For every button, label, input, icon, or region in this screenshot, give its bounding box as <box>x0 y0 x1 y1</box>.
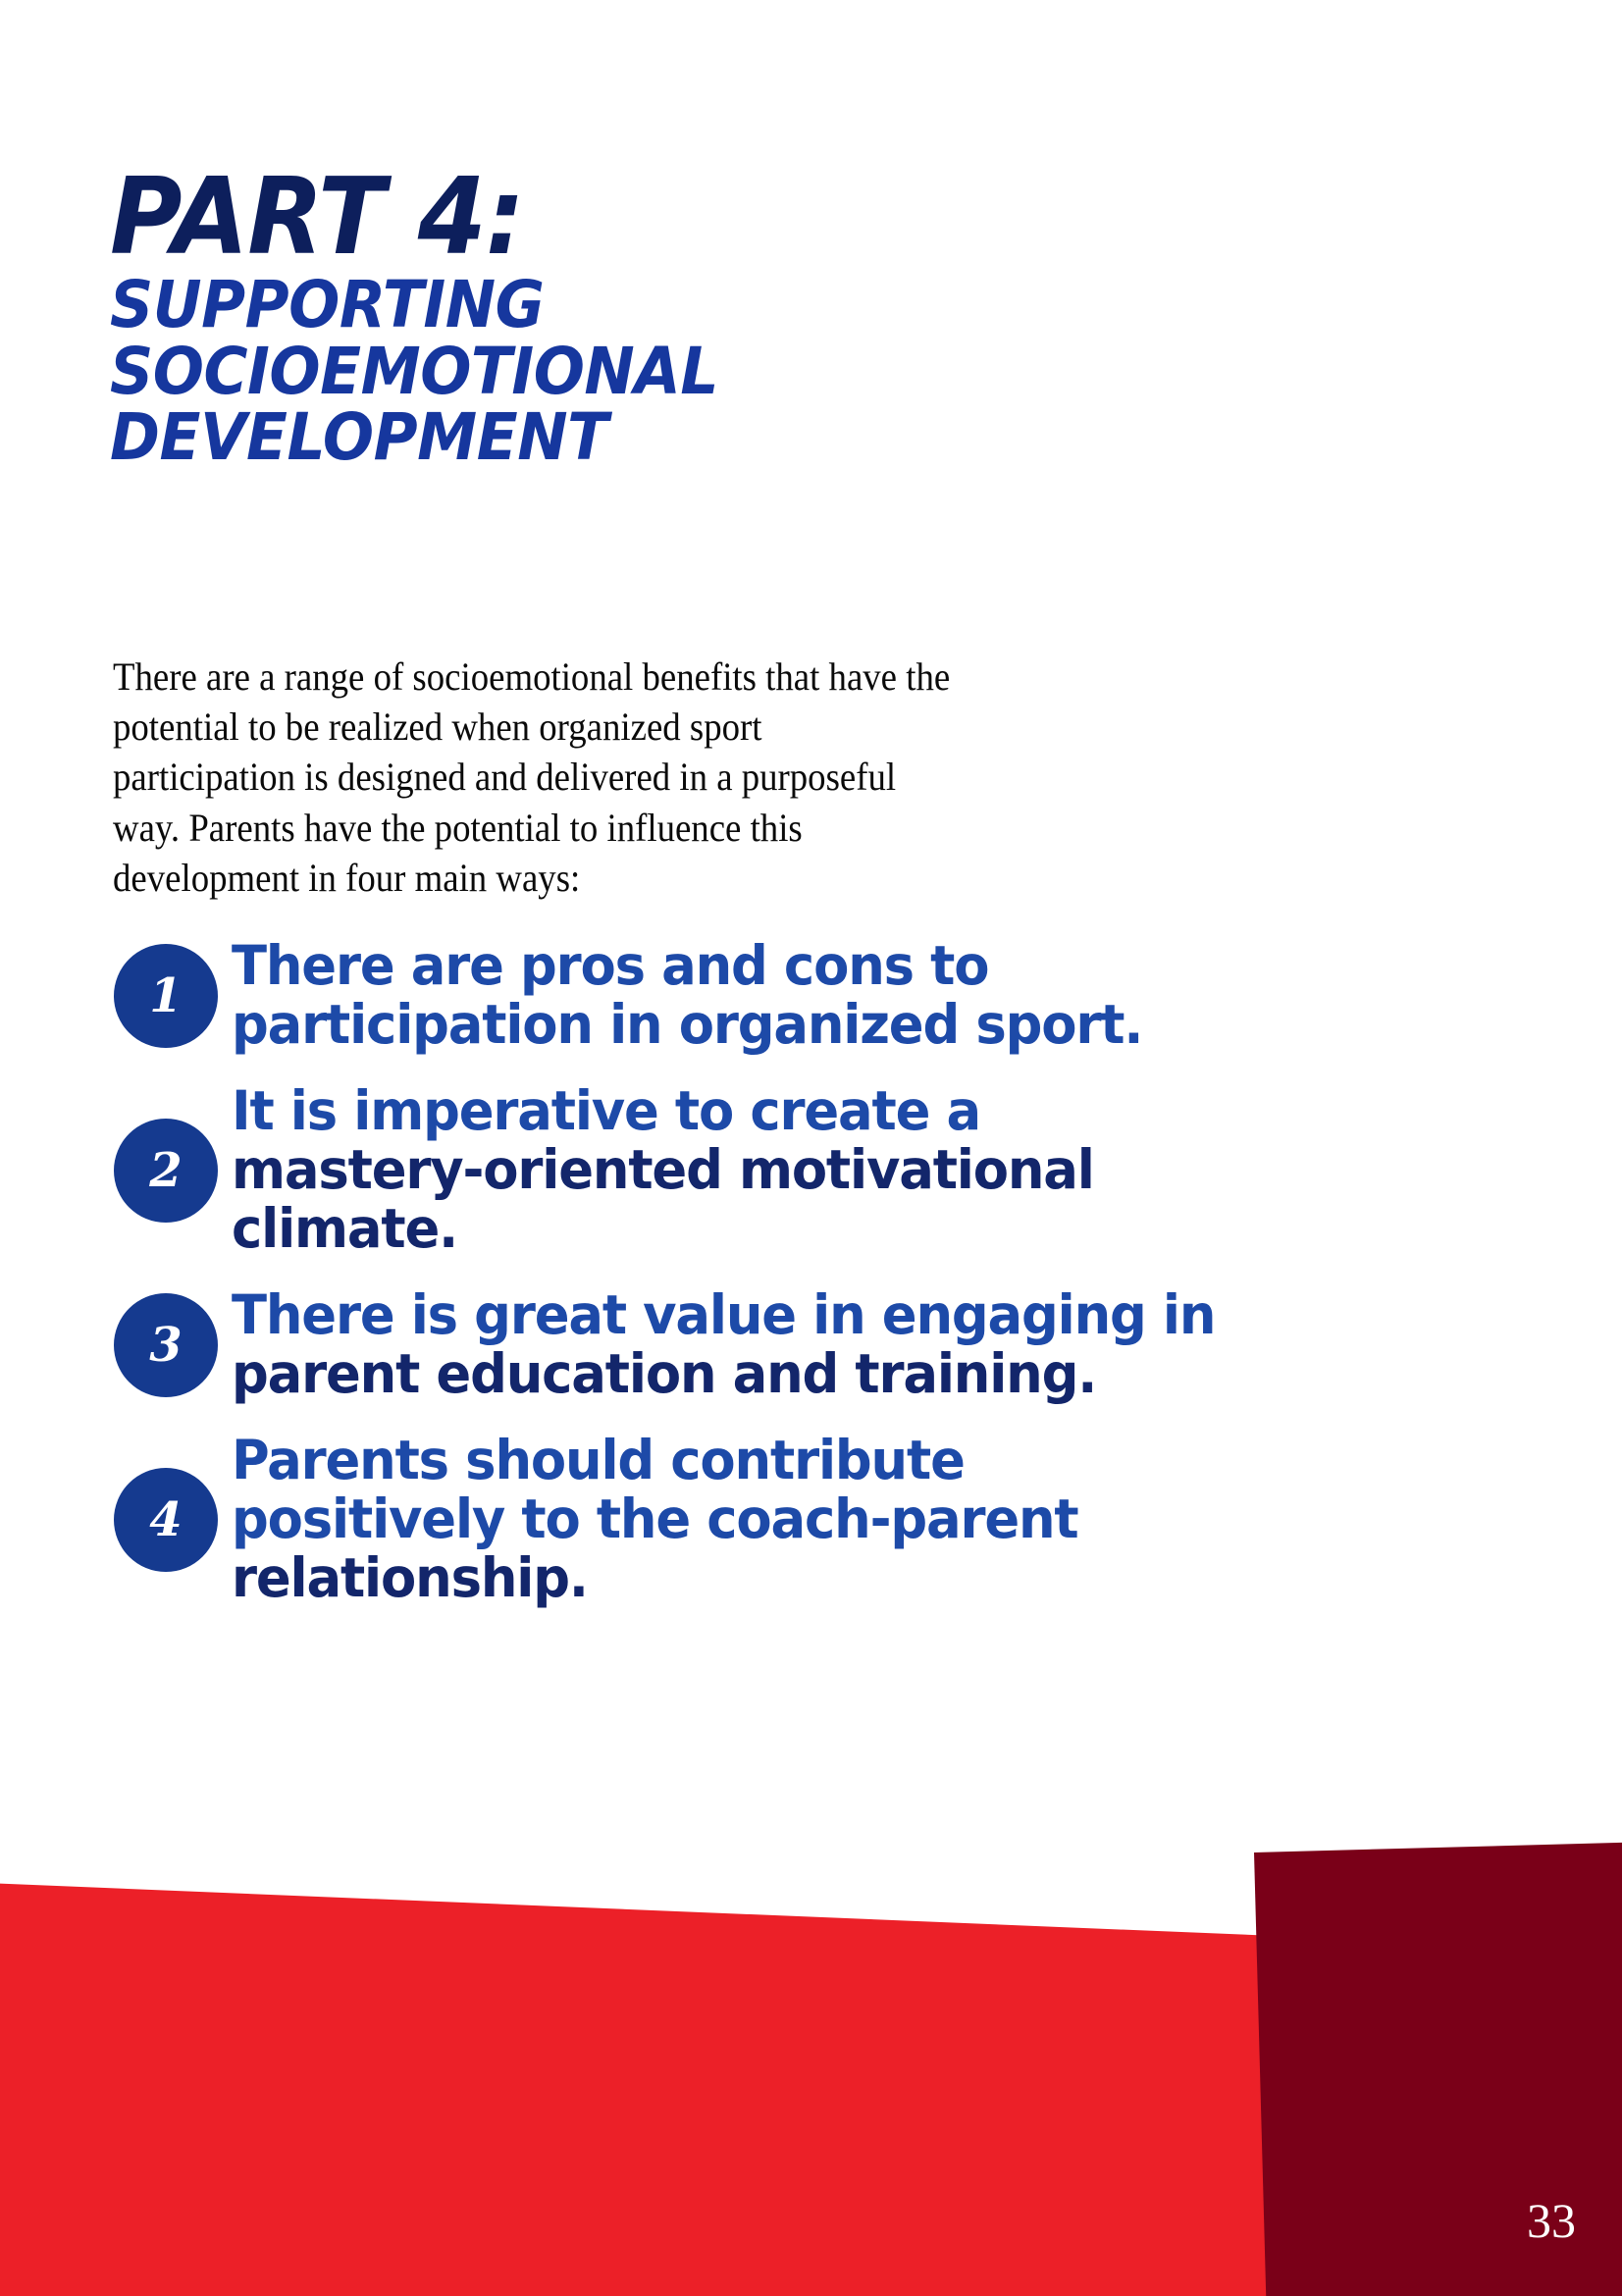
list-number-badge: 1 <box>114 944 218 1048</box>
list-item-line: relationship. <box>232 1549 1078 1608</box>
list-item-text: There are pros and cons to participation… <box>232 937 1142 1055</box>
list-item-text: Parents should contribute positively to … <box>232 1432 1078 1608</box>
list-item-line: It is imperative to create a <box>232 1082 1094 1141</box>
page-title-subtitle-line-2: SOCIOEMOTIONAL <box>110 339 1114 405</box>
list-item-line: climate. <box>232 1200 1094 1259</box>
page-title-subtitle-line-3: DEVELOPMENT <box>110 404 1114 471</box>
list-item-line: There are pros and cons to <box>232 937 1142 996</box>
page-title-subtitle: SUPPORTING SOCIOEMOTIONAL DEVELOPMENT <box>110 272 1114 472</box>
list-number-badge: 2 <box>114 1119 218 1223</box>
list-item-line: There is great value in engaging in <box>232 1286 1215 1345</box>
list-number-badge: 3 <box>114 1293 218 1397</box>
list-item: 2 It is imperative to create a mastery-o… <box>114 1082 1419 1259</box>
list-item-text: There is great value in engaging in pare… <box>232 1286 1215 1404</box>
list-item: 4 Parents should contribute positively t… <box>114 1432 1419 1608</box>
list-item-line: parent education and training. <box>232 1345 1215 1404</box>
document-page: PART 4: SUPPORTING SOCIOEMOTIONAL DEVELO… <box>0 0 1622 2296</box>
list-item-line: Parents should contribute <box>232 1432 1078 1490</box>
list-item-line: mastery-oriented motivational <box>232 1141 1094 1200</box>
numbered-list: 1 There are pros and cons to participati… <box>114 937 1419 1636</box>
list-item: 1 There are pros and cons to participati… <box>114 937 1419 1055</box>
page-content: PART 4: SUPPORTING SOCIOEMOTIONAL DEVELO… <box>0 0 1622 2296</box>
page-title-main: PART 4: <box>110 175 1114 262</box>
list-item-text: It is imperative to create a mastery-ori… <box>232 1082 1094 1259</box>
page-number: 33 <box>1527 2196 1576 2245</box>
page-title-subtitle-line-1: SUPPORTING <box>110 272 1114 339</box>
list-item-line: positively to the coach-parent <box>232 1490 1078 1549</box>
list-number-badge: 4 <box>114 1468 218 1572</box>
intro-paragraph: There are a range of socioemotional bene… <box>113 652 953 903</box>
page-title-block: PART 4: SUPPORTING SOCIOEMOTIONAL DEVELO… <box>110 175 1189 471</box>
list-item-line: participation in organized sport. <box>232 996 1142 1055</box>
list-item: 3 There is great value in engaging in pa… <box>114 1286 1419 1404</box>
